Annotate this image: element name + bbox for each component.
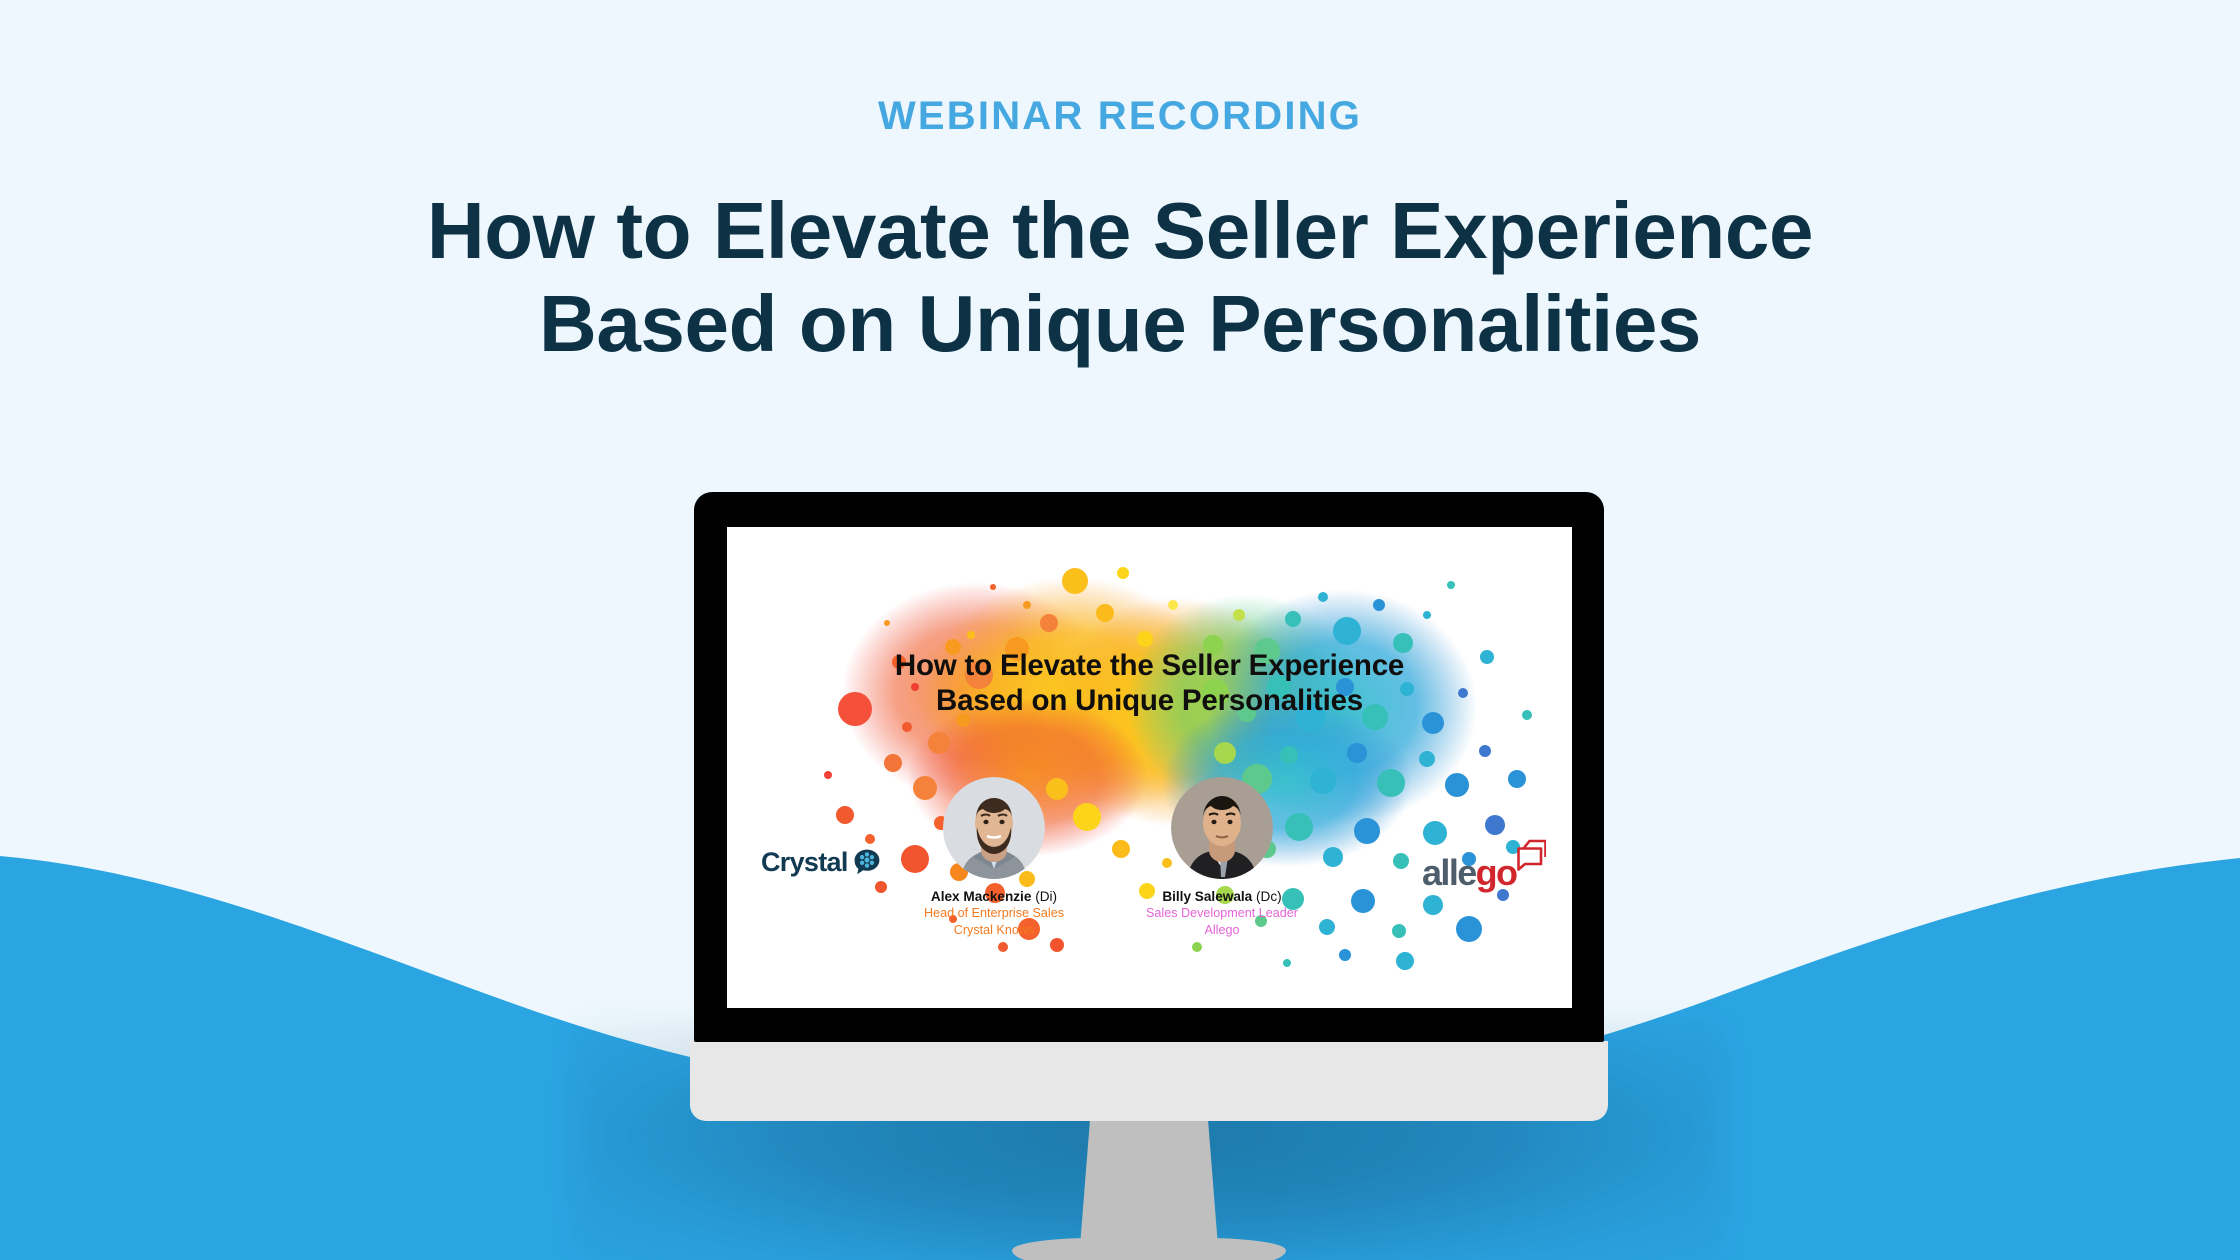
allego-wordmark: allego [1422, 855, 1516, 891]
slide-title: How to Elevate the Seller Experience Bas… [727, 649, 1572, 719]
allego-logo: allego [1422, 839, 1550, 893]
page-title: How to Elevate the Seller Experience Bas… [0, 185, 2240, 371]
speaker-personality-code: (Di) [1035, 889, 1057, 904]
monitor-chin [690, 1041, 1608, 1121]
speaker-role: Sales Development Leader [1107, 905, 1337, 921]
webinar-title-slide: How to Elevate the Seller Experience Bas… [727, 527, 1572, 1008]
webinar-landing-page: WEBINAR RECORDING How to Elevate the Sel… [0, 0, 2240, 1260]
crystal-wordmark: Crystal [761, 849, 848, 876]
speaker-role: Head of Enterprise Sales [879, 905, 1109, 921]
headshot-billy-salewala-icon [1171, 777, 1273, 879]
speaker-organization: Crystal Knows [879, 922, 1109, 938]
speaker-name: Billy Salewala (Dc) [1107, 888, 1337, 905]
crystal-speech-bubble-icon [853, 848, 881, 876]
monitor-bezel: How to Elevate the Seller Experience Bas… [694, 492, 1604, 1042]
speaker-full-name: Alex Mackenzie [931, 889, 1032, 904]
allego-wordmark-alle: alle [1422, 852, 1476, 893]
crystal-logo: Crystal [761, 848, 881, 876]
speaker-card-alex-mackenzie: Alex Mackenzie (Di) Head of Enterprise S… [879, 777, 1109, 938]
headshot-alex-mackenzie-icon [943, 777, 1045, 879]
allego-speech-bubble-icon [1512, 839, 1546, 871]
eyebrow-label: WEBINAR RECORDING [0, 96, 2240, 136]
allego-wordmark-go: go [1476, 852, 1517, 893]
speaker-full-name: Billy Salewala [1162, 889, 1252, 904]
speaker-name: Alex Mackenzie (Di) [879, 888, 1109, 905]
monitor-mockup: How to Elevate the Seller Experience Bas… [694, 492, 1604, 1260]
headline-block: WEBINAR RECORDING How to Elevate the Sel… [0, 96, 2240, 371]
speaker-card-billy-salewala: Billy Salewala (Dc) Sales Development Le… [1107, 777, 1337, 938]
speaker-personality-code: (Dc) [1256, 889, 1282, 904]
speaker-organization: Allego [1107, 922, 1337, 938]
monitor-stand-foot [1012, 1238, 1286, 1260]
